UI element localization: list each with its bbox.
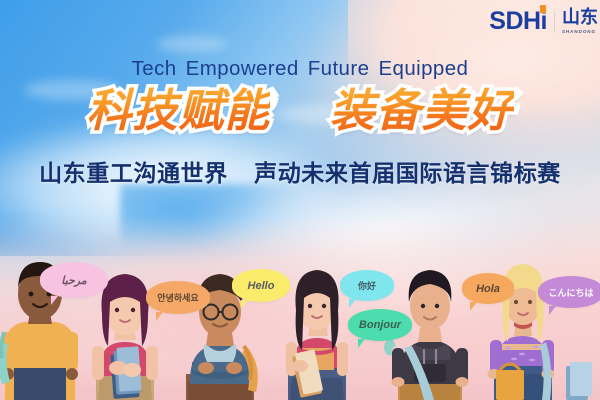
bubble-japanese-text: こんにちは	[548, 286, 593, 299]
bubble-french-tail	[358, 339, 365, 348]
bubble-spanish: Hola	[462, 273, 514, 304]
bubble-chinese: 你好	[340, 270, 394, 301]
logo-chinese-block: 山东 SHANDONG	[562, 9, 598, 34]
bubble-french-text: Bonjour	[359, 319, 401, 331]
bubble-english-tail	[241, 300, 248, 309]
subtitle-part-2: 声动未来首届国际语言锦标赛	[254, 161, 561, 187]
logo-wordmark: SDHi	[489, 9, 547, 34]
bubble-arabic-text: مرحبا	[61, 274, 86, 287]
bubble-spanish-tail	[470, 302, 477, 311]
subtitle-chinese: 山东重工沟通世界 声动未来首届国际语言锦标赛	[0, 163, 600, 186]
bubble-english: Hello	[232, 269, 290, 302]
bubble-japanese-tail	[549, 306, 556, 315]
bubble-korean-text: 안녕하세요	[157, 291, 198, 304]
bubble-chinese-text: 你好	[358, 279, 376, 292]
logo-chinese-name: 山东	[562, 9, 598, 27]
person-4	[286, 270, 348, 400]
bubble-spanish-text: Hola	[476, 283, 500, 295]
logo-accent-dot	[540, 5, 546, 13]
bubble-korean: 안녕하세요	[146, 281, 210, 314]
bubble-french: Bonjour	[348, 309, 412, 341]
promotional-banner: SDHi 山东 SHANDONG Tech Empowered Future E…	[0, 0, 600, 400]
logo-divider	[554, 11, 555, 32]
headline-chinese: 科技赋能 科技赋能 装备美好 装备美好	[0, 88, 600, 133]
headline-part-1: 科技赋能 科技赋能	[86, 88, 270, 133]
subtitle-part-1: 山东重工沟通世界	[39, 161, 228, 187]
sdhi-logo[interactable]: SDHi 山东 SHANDONG	[489, 9, 600, 34]
bubble-chinese-tail	[349, 299, 356, 308]
bubble-japanese: こんにちは	[538, 276, 600, 308]
bubble-arabic: مرحبا	[40, 262, 108, 298]
headline-part-2: 装备美好 装备美好	[330, 88, 514, 133]
headline-part-1-fill: 科技赋能	[86, 84, 270, 137]
headline-part-2-fill: 装备美好	[330, 84, 514, 137]
bubble-arabic-tail	[51, 296, 58, 305]
logo-chinese-pinyin: SHANDONG	[562, 30, 598, 35]
tagline-english: Tech Empowered Future Equipped	[0, 57, 600, 81]
cloud-wisp-2	[156, 36, 228, 52]
bubble-korean-tail	[156, 312, 163, 321]
bubble-english-text: Hello	[248, 280, 275, 292]
logo-wordmark-text: SDHi	[489, 7, 547, 35]
